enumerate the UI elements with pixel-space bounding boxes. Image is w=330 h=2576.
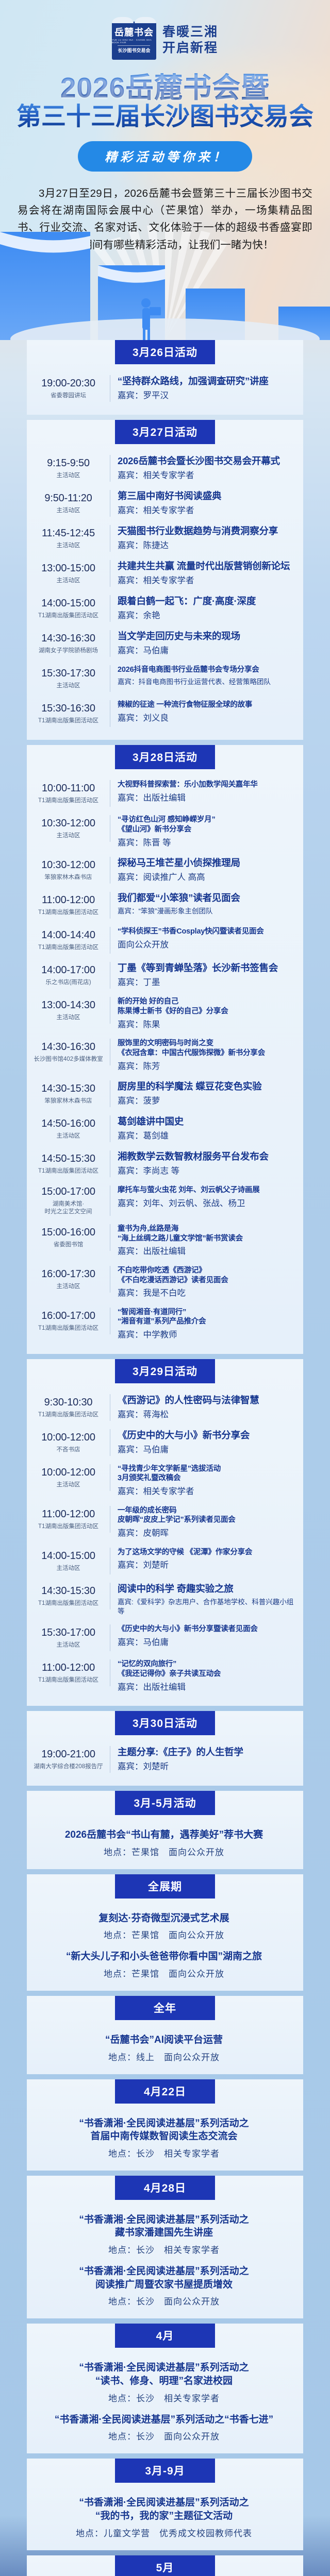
row-time: 11:00-12:00: [42, 1662, 95, 1674]
row-title: 2026抖音电商图书行业岳麓书会专场分享会: [118, 665, 296, 675]
row-guest: 嘉宾：陈晋 等: [118, 837, 296, 849]
row-title: 主题分享:《庄子》的人生哲学: [118, 1746, 296, 1758]
row-content: 丁墨《等到青蝉坠落》长沙新书签售会嘉宾：丁墨: [110, 962, 296, 988]
row-time-venue: 15:00-17:00湖南美术馆·时光之尘艺文空间: [32, 1185, 110, 1216]
row-guest: 嘉宾：出版社编辑: [118, 792, 296, 804]
row-time-venue: 14:00-15:00主活动区: [32, 1548, 110, 1574]
row-content: 《历史中的大与小》新书分享暨读者见面会嘉宾：马伯庸: [110, 1624, 296, 1648]
row-venue: 主活动区: [57, 507, 80, 515]
centered-meta: 地点：芒果馆 面向公众开放: [35, 1928, 293, 1941]
calligraphy-line1: 春暖三湘: [162, 25, 218, 41]
row-time: 11:00-12:00: [42, 1508, 95, 1521]
centered-meta: 地点：长沙 相关专家学者: [35, 2146, 293, 2159]
row-time-venue: 14:30-15:30T1湖南出版集团活动区: [32, 1583, 110, 1609]
day-rows: 复刻达·芬奇微型沉浸式艺术展地点：芒果馆 面向公众开放“新大头儿子和小头爸爸带你…: [27, 1899, 303, 1982]
tagline-pill: 精彩活动等你来！: [78, 141, 252, 172]
row-content: “寻找青少年文学新星”选拔活动3月颁奖礼暨改稿会嘉宾：相关专家学者: [110, 1464, 296, 1498]
row-time-venue: 19:00-20:30省委蓉园讲坛: [32, 375, 110, 402]
centered-title: “书香潇湘·全民阅读进基层”系列活动之“书香七进”: [35, 2413, 293, 2427]
row-venue: 主活动区: [57, 577, 80, 585]
row-title: 当文学走回历史与未来的现场: [118, 630, 296, 642]
schedule-row: 19:00-21:00湖南大学综合楼208报告厅主题分享:《庄子》的人生哲学嘉宾…: [32, 1742, 296, 1777]
row-guest: 嘉宾：马伯庸: [118, 1637, 296, 1648]
hero-section: 岳麓书会 YUE LU SHU HUI · CHANG SHA BOOK FAI…: [0, 0, 330, 340]
day-header: 全展期: [115, 1874, 215, 1899]
row-time-venue: 13:00-15:00主活动区: [32, 560, 110, 587]
row-venue: T1湖南出版集团活动区: [38, 909, 98, 917]
row-content: 摩托车与萤火虫花 刘年、刘云帆父子诗画展嘉宾：刘年、刘云帆、张战、杨卫: [110, 1185, 296, 1209]
day-header: 3月27日活动: [115, 420, 215, 444]
day-header: 5月: [115, 2555, 215, 2576]
row-time-venue: 10:00-12:00主活动区: [32, 1464, 110, 1491]
logo-badge-pinyin: YUE LU SHU HUI · CHANG SHA BOOK FAIR: [112, 39, 156, 44]
centered-title: “书香潇湘·全民阅读进基层”系列活动之阅读推广周暨农家书屋提质增效: [35, 2265, 293, 2291]
row-time: 10:00-11:00: [42, 782, 95, 795]
row-guest: 嘉宾：刘年、刘云帆、张战、杨卫: [118, 1198, 296, 1209]
day-block: 3月-9月“书香潇湘·全民阅读进基层”系列活动之“我的书，我的家”主题征文活动地…: [27, 2459, 303, 2550]
row-title: “智阅湘音·有道同行”“湘音有道”系列产品推介会: [118, 1308, 296, 1327]
row-content: 我们都爱“小笨狼”读者见面会嘉宾：“笨狼”漫画形象主创团队: [110, 892, 296, 916]
row-title: 阅读中的科学 奇趣实验之旅: [118, 1583, 296, 1595]
row-title: 新的开始 好的自己陈果博士新书《好的自己》分享会: [118, 997, 296, 1016]
centered-meta: 地点：线上 面向公众开放: [35, 2050, 293, 2063]
row-time: 14:30-15:30: [41, 1585, 95, 1598]
centered-title: “书香潇湘·全民阅读进基层”系列活动之首届中南传媒数智阅读生态交流会: [35, 2117, 293, 2143]
row-content: 跟着白鹤一起飞：广度·高度·深度嘉宾：余艳: [110, 595, 296, 621]
centered-meta: 地点：儿童文学营 优秀成文校园教师代表: [35, 2526, 293, 2539]
row-venue: T1湖南出版集团活动区: [38, 1167, 98, 1175]
day-block: 3月29日活动9:30-10:30T1湖南出版集团活动区《西游记》的人性密码与法…: [27, 1359, 303, 1706]
row-time: 19:00-21:00: [41, 1748, 95, 1761]
row-time-venue: 19:00-21:00湖南大学综合楼208报告厅: [32, 1746, 110, 1773]
row-content: 童书为舟,丝路是海“海上丝绸之路儿童文学馆”新书赏读会嘉宾：出版社编辑: [110, 1224, 296, 1258]
row-guest: 嘉宾：相关专家学者: [118, 470, 296, 481]
day-rows: “岳麓书会”AI阅读平台运营地点：线上 面向公众开放: [27, 2020, 303, 2066]
row-title: 探秘马王堆芒星小侦探推理局: [118, 857, 296, 869]
books-illustration: [0, 222, 330, 340]
row-guest: 嘉宾：我是不白吃: [118, 1287, 296, 1299]
day-header: 3月-5月活动: [115, 1791, 215, 1815]
row-title: 服饰里的文明密码与时尚之变《衣冠含章：中国古代服饰探微》新书分享会: [118, 1039, 296, 1058]
schedule-row: 14:30-15:30T1湖南出版集团活动区阅读中的科学 奇趣实验之旅嘉宾:《爱…: [32, 1579, 296, 1621]
row-time: 15:30-17:00: [41, 1626, 95, 1639]
row-content: “寻访红色山河 感知峥嵘岁月”《望山河》新书分享会嘉宾：陈晋 等: [110, 815, 296, 849]
row-venue: 省委蓉园讲坛: [51, 392, 86, 400]
row-title: 跟着白鹤一起飞：广度·高度·深度: [118, 595, 296, 607]
row-title: “学科侦探王”书香Cosplay快闪暨读者见面会: [118, 927, 296, 937]
centered-meta: 地点：长沙 面向公众开放: [35, 2429, 293, 2442]
row-title: 《西游记》的人性密码与法律智慧: [118, 1394, 296, 1406]
row-venue: 乐之书店(雨花店): [45, 979, 91, 987]
day-block: 3月-5月活动2026岳麓书会“书山有麓，遇荐美好”荐书大赛地点：芒果馆 面向公…: [27, 1791, 303, 1869]
row-time-venue: 15:30-17:00主活动区: [32, 1624, 110, 1651]
row-title: 厨房里的科学魔法 蝶豆花变色实验: [118, 1080, 296, 1093]
row-time-venue: 10:30-12:00主活动区: [32, 815, 110, 842]
row-time: 14:00-15:00: [41, 597, 95, 610]
row-venue: 湖南女子学院骄杨剧场: [39, 647, 98, 655]
row-content: “坚持群众路线，加强调查研究”讲座嘉宾：罗平汉: [110, 375, 296, 401]
row-content: 《历史中的大与小》新书分享会嘉宾：马伯庸: [110, 1429, 296, 1455]
row-venue: 笨狼家林木森书店: [45, 1097, 92, 1105]
row-guest: 嘉宾：相关专家学者: [118, 575, 296, 586]
schedule-row: 9:15-9:50主活动区2026岳麓书会暨长沙图书交易会开幕式嘉宾：相关专家学…: [32, 451, 296, 486]
row-venue: T1湖南出版集团活动区: [38, 1411, 98, 1419]
day-header: 3月30日活动: [115, 1711, 215, 1735]
row-content: 湘教数学云数智教材服务平台发布会嘉宾：李尚志 等: [110, 1150, 296, 1177]
schedule-row: 16:00-17:30主活动区不白吃带你吃透《西游记》《不白吃漫话西游记》读者见…: [32, 1262, 296, 1304]
schedule-row: 14:30-16:30湖南女子学院骄杨剧场当文学走回历史与未来的现场嘉宾：马伯庸: [32, 626, 296, 662]
row-time: 10:30-12:00: [41, 859, 95, 872]
row-content: 一年级的成长密码皮朝晖“皮皮上学记”系列读者见面会嘉宾：皮朝晖: [110, 1506, 296, 1539]
centered-title: 复刻达·芬奇微型沉浸式艺术展: [35, 1912, 293, 1925]
row-time-venue: 14:30-15:30笨狼家林木森书店: [32, 1080, 110, 1107]
poster-page: 岳麓书会 YUE LU SHU HUI · CHANG SHA BOOK FAI…: [0, 0, 330, 2576]
schedule-list: 3月26日活动19:00-20:30省委蓉园讲坛“坚持群众路线，加强调查研究”讲…: [0, 340, 330, 2576]
row-content: “记忆的双向旅行”《我还记得你》亲子共读互动会嘉宾：出版社编辑: [110, 1659, 296, 1693]
row-venue: 主活动区: [57, 1283, 80, 1291]
row-time-venue: 15:30-17:30主活动区: [32, 665, 110, 692]
row-time-venue: 11:00-12:00T1湖南出版集团活动区: [32, 1659, 110, 1686]
day-rows: “书香潇湘·全民阅读进基层”系列活动之藏书家潘建国先生讲座地点：长沙 相关专家学…: [27, 2200, 303, 2311]
row-guest: 嘉宾：陈果: [118, 1019, 296, 1030]
row-time-venue: 11:00-12:00T1湖南出版集团活动区: [32, 1506, 110, 1533]
row-time: 14:50-16:00: [41, 1117, 95, 1130]
row-time-venue: 9:15-9:50主活动区: [32, 455, 110, 482]
schedule-row: 16:00-17:00T1湖南出版集团活动区“智阅湘音·有道同行”“湘音有道”系…: [32, 1304, 296, 1346]
row-time-venue: 9:50-11:20主活动区: [32, 490, 110, 517]
row-content: “学科侦探王”书香Cosplay快闪暨读者见面会面向公众开放: [110, 927, 296, 951]
centered-meta: 地点：长沙 面向公众开放: [35, 2294, 293, 2307]
logo-badge-line2: 长沙图书交易会: [118, 45, 150, 54]
day-header: 3月26日活动: [115, 340, 215, 364]
row-time: 14:00-14:40: [41, 929, 95, 942]
row-content: 辣椒的征途 一种流行食物征服全球的故事嘉宾：刘义良: [110, 700, 296, 724]
row-guest: 嘉宾：陈芳: [118, 1061, 296, 1072]
day-block: 4月“书香潇湘·全民阅读进基层”系列活动之“读书、修身、明理”名家进校园地点：长…: [27, 2324, 303, 2453]
row-time-venue: 13:00-14:30主活动区: [32, 997, 110, 1024]
day-rows: 2026岳麓书会“书山有麓，遇荐美好”荐书大赛地点：芒果馆 面向公众开放: [27, 1815, 303, 1861]
row-guest: 嘉宾：蒋海松: [118, 1409, 296, 1420]
schedule-centered-row: “岳麓书会”AI阅读平台运营地点：线上 面向公众开放: [32, 2027, 296, 2066]
row-guest: 嘉宾：中学教师: [118, 1329, 296, 1341]
row-time: 16:00-17:00: [41, 1310, 95, 1323]
row-content: 第三届中南好书阅读盛典嘉宾：相关专家学者: [110, 490, 296, 516]
day-block: 全展期复刻达·芬奇微型沉浸式艺术展地点：芒果馆 面向公众开放“新大头儿子和小头爸…: [27, 1874, 303, 1991]
centered-title: 2026岳麓书会“书山有麓，遇荐美好”荐书大赛: [35, 1828, 293, 1842]
schedule-row: 15:00-16:00省委图书馆童书为舟,丝路是海“海上丝绸之路儿童文学馆”新书…: [32, 1221, 296, 1262]
day-rows: 10:00-11:00T1湖南出版集团活动区大视野科普探索营：乐小加数学闯关嘉年…: [27, 769, 303, 1346]
row-time-venue: 9:30-10:30T1湖南出版集团活动区: [32, 1394, 110, 1421]
schedule-row: 11:00-12:00T1湖南出版集团活动区“记忆的双向旅行”《我还记得你》亲子…: [32, 1656, 296, 1698]
day-header: 4月: [115, 2324, 215, 2348]
schedule-row: 10:30-12:00笨狼家林木森书店探秘马王堆芒星小侦探推理局嘉宾：阅读推广人…: [32, 853, 296, 888]
row-venue: 主活动区: [57, 1132, 80, 1140]
schedule-row: 10:00-12:00不吝书店《历史中的大与小》新书分享会嘉宾：马伯庸: [32, 1426, 296, 1461]
schedule-row: 14:00-15:00主活动区为了这场文学的守候 《泥潭》作家分享会嘉宾：刘楚昕: [32, 1544, 296, 1579]
centered-meta: 地点：芒果馆 面向公众开放: [35, 1845, 293, 1858]
day-rows: 19:00-20:30省委蓉园讲坛“坚持群众路线，加强调查研究”讲座嘉宾：罗平汉: [27, 364, 303, 406]
row-venue: 不吝书店: [57, 1446, 80, 1454]
schedule-row: 14:00-15:00T1湖南出版集团活动区跟着白鹤一起飞：广度·高度·深度嘉宾…: [32, 591, 296, 626]
day-block: 3月26日活动19:00-20:30省委蓉园讲坛“坚持群众路线，加强调查研究”讲…: [27, 340, 303, 415]
row-time: 10:30-12:00: [41, 817, 95, 830]
row-time-venue: 14:00-14:40T1湖南出版集团活动区: [32, 927, 110, 954]
row-time: 15:30-16:30: [41, 702, 95, 715]
row-venue: 笨狼家林木森书店: [45, 874, 92, 882]
schedule-row: 15:00-17:00湖南美术馆·时光之尘艺文空间摩托车与萤火虫花 刘年、刘云帆…: [32, 1182, 296, 1221]
centered-title: “新大头儿子和小头爸爸带你看中国”湖南之旅: [35, 1950, 293, 1963]
schedule-row: 9:30-10:30T1湖南出版集团活动区《西游记》的人性密码与法律智慧嘉宾：蒋…: [32, 1391, 296, 1426]
row-time: 13:00-15:00: [41, 562, 95, 575]
row-time: 14:00-17:00: [41, 964, 95, 977]
row-venue: T1湖南出版集团活动区: [38, 944, 98, 952]
row-venue: 主活动区: [57, 472, 80, 480]
schedule-row: 10:30-12:00主活动区“寻访红色山河 感知峥嵘岁月”《望山河》新书分享会…: [32, 811, 296, 853]
schedule-centered-row: “书香潇湘·全民阅读进基层”系列活动之阅读推广周暨农家书屋提质增效地点：长沙 面…: [32, 2259, 296, 2310]
row-time: 9:15-9:50: [47, 457, 90, 470]
row-content: 阅读中的科学 奇趣实验之旅嘉宾:《爱科学》杂志用户、合作基地学校、科普兴趣小组等: [110, 1583, 296, 1616]
row-guest: 嘉宾：刘楚昕: [118, 1560, 296, 1571]
schedule-centered-row: 复刻达·芬奇微型沉浸式艺术展地点：芒果馆 面向公众开放: [32, 1906, 296, 1944]
schedule-row: 13:00-14:30主活动区新的开始 好的自己陈果博士新书《好的自己》分享会嘉…: [32, 993, 296, 1035]
day-header: 4月22日: [115, 2079, 215, 2104]
schedule-centered-row: “书香潇湘·全民阅读进基层”系列活动之“书香七进”地点：长沙 面向公众开放: [32, 2407, 296, 2446]
schedule-row: 13:00-15:00主活动区共建共生共赢 流量时代出版营销创新论坛嘉宾：相关专…: [32, 556, 296, 591]
row-time: 11:45-12:45: [42, 527, 95, 540]
row-guest: 嘉宾：李尚志 等: [118, 1165, 296, 1177]
row-venue: 湖南美术馆·时光之尘艺文空间: [45, 1200, 92, 1216]
logo-badge-line1: 岳麓书会: [114, 28, 154, 38]
schedule-row: 14:00-17:00乐之书店(雨花店)丁墨《等到青蝉坠落》长沙新书签售会嘉宾：…: [32, 958, 296, 993]
row-title: 一年级的成长密码皮朝晖“皮皮上学记”系列读者见面会: [118, 1506, 296, 1526]
day-rows: “书香潇湘·全民阅读进基层”系列活动之“我的书，我的家”主题征文活动地点：儿童文…: [27, 2483, 303, 2541]
row-guest: 嘉宾：刘义良: [118, 713, 296, 724]
row-time-venue: 16:00-17:00T1湖南出版集团活动区: [32, 1308, 110, 1334]
row-content: 主题分享:《庄子》的人生哲学嘉宾：刘楚昕: [110, 1746, 296, 1772]
day-header: 4月28日: [115, 2176, 215, 2200]
schedule-centered-row: “书香潇湘·全民阅读进基层”系列活动之“读书、修身、明理”名家进校园地点：长沙 …: [32, 2355, 296, 2406]
row-content: “智阅湘音·有道同行”“湘音有道”系列产品推介会嘉宾：中学教师: [110, 1308, 296, 1341]
row-time: 15:30-17:30: [41, 667, 95, 680]
row-guest: 嘉宾：余艳: [118, 610, 296, 621]
row-guest: 嘉宾：相关专家学者: [118, 505, 296, 516]
schedule-row: 14:30-15:30笨狼家林木森书店厨房里的科学魔法 蝶豆花变色实验嘉宾：菠萝: [32, 1077, 296, 1112]
row-content: 不白吃带你吃透《西游记》《不白吃漫话西游记》读者见面会嘉宾：我是不白吃: [110, 1266, 296, 1299]
row-guest: 嘉宾：皮朝晖: [118, 1528, 296, 1539]
row-time-venue: 15:30-16:30T1湖南出版集团活动区: [32, 700, 110, 727]
schedule-row: 9:50-11:20主活动区第三届中南好书阅读盛典嘉宾：相关专家学者: [32, 486, 296, 521]
row-content: 2026抖音电商图书行业岳麓书会专场分享会嘉宾：抖音电商图书行业运营代表、经营策…: [110, 665, 296, 687]
schedule-row: 14:00-14:40T1湖南出版集团活动区“学科侦探王”书香Cosplay快闪…: [32, 923, 296, 958]
row-venue: 主活动区: [57, 1481, 80, 1489]
row-title: 大视野科普探索营：乐小加数学闯关嘉年华: [118, 780, 296, 790]
day-rows: 9:15-9:50主活动区2026岳麓书会暨长沙图书交易会开幕式嘉宾：相关专家学…: [27, 444, 303, 732]
row-venue: 湖南大学综合楼208报告厅: [34, 1763, 103, 1771]
row-time-venue: 14:30-16:30湖南女子学院骄杨剧场: [32, 630, 110, 657]
row-guest: 嘉宾：刘楚昕: [118, 1761, 296, 1772]
row-guest: 嘉宾：出版社编辑: [118, 1246, 296, 1257]
row-content: 葛剑雄讲中国史嘉宾：葛剑雄: [110, 1115, 296, 1142]
row-venue: 主活动区: [57, 682, 80, 690]
day-rows: 19:00-21:00湖南大学综合楼208报告厅主题分享:《庄子》的人生哲学嘉宾…: [27, 1735, 303, 1777]
row-time-venue: 11:00-12:00T1湖南出版集团活动区: [32, 892, 110, 919]
row-time: 19:00-20:30: [41, 377, 95, 390]
row-venue: 主活动区: [57, 1565, 80, 1572]
schedule-centered-row: 2026岳麓书会“书山有麓，遇荐美好”荐书大赛地点：芒果馆 面向公众开放: [32, 1822, 296, 1861]
row-title: 我们都爱“小笨狼”读者见面会: [118, 892, 296, 904]
row-title: 葛剑雄讲中国史: [118, 1115, 296, 1128]
row-venue: T1湖南出版集团活动区: [38, 797, 98, 805]
centered-meta: 地点：长沙 相关专家学者: [35, 2243, 293, 2256]
row-guest: 嘉宾：马伯庸: [118, 645, 296, 656]
day-header: 3月-9月: [115, 2459, 215, 2483]
row-content: 为了这场文学的守候 《泥潭》作家分享会嘉宾：刘楚昕: [110, 1548, 296, 1571]
row-title: 丁墨《等到青蝉坠落》长沙新书签售会: [118, 962, 296, 974]
centered-title: “书香潇湘·全民阅读进基层”系列活动之藏书家潘建国先生讲座: [35, 2213, 293, 2240]
row-time: 13:00-14:30: [41, 999, 95, 1012]
row-time: 14:50-15:30: [41, 1153, 95, 1165]
schedule-centered-row: “书香潇湘·全民阅读进基层”系列活动之“我的书，我的家”主题征文活动地点：儿童文…: [32, 2490, 296, 2541]
schedule-row: 14:30-16:30长沙图书馆402多媒体教室服饰里的文明密码与时尚之变《衣冠…: [32, 1035, 296, 1077]
row-time-venue: 14:30-16:30长沙图书馆402多媒体教室: [32, 1039, 110, 1065]
row-venue: 主活动区: [57, 1014, 80, 1022]
schedule-row: 10:00-12:00主活动区“寻找青少年文学新星”选拔活动3月颁奖礼暨改稿会嘉…: [32, 1461, 296, 1502]
row-guest: 嘉宾：阅读推广人 高高: [118, 872, 296, 883]
schedule-row: 11:45-12:45主活动区天猫图书行业数据趋势与消费洞察分享嘉宾：陈捷达: [32, 521, 296, 556]
page-subtitle: 第三十三届长沙图书交易会: [0, 104, 330, 131]
row-time: 14:00-15:00: [41, 1550, 95, 1563]
row-content: 天猫图书行业数据趋势与消费洞察分享嘉宾：陈捷达: [110, 525, 296, 551]
row-title: “记忆的双向旅行”《我还记得你》亲子共读互动会: [118, 1659, 296, 1679]
row-content: 新的开始 好的自己陈果博士新书《好的自己》分享会嘉宾：陈果: [110, 997, 296, 1030]
row-guest: 嘉宾：马伯庸: [118, 1444, 296, 1455]
brand-logo: 岳麓书会 YUE LU SHU HUI · CHANG SHA BOOK FAI…: [0, 0, 330, 60]
row-title: 摩托车与萤火虫花 刘年、刘云帆父子诗画展: [118, 1185, 296, 1195]
schedule-centered-row: “书香潇湘·全民阅读进基层”系列活动之首届中南传媒数智阅读生态交流会地点：长沙 …: [32, 2111, 296, 2162]
logo-badge-icon: 岳麓书会 YUE LU SHU HUI · CHANG SHA BOOK FAI…: [112, 22, 156, 60]
schedule-row: 15:30-17:30主活动区2026抖音电商图书行业岳麓书会专场分享会嘉宾：抖…: [32, 662, 296, 697]
row-guest: 嘉宾：相关专家学者: [118, 1486, 296, 1497]
row-time: 11:00-12:00: [42, 894, 95, 907]
row-time-venue: 14:50-16:00主活动区: [32, 1115, 110, 1142]
row-venue: 省委图书馆: [54, 1241, 84, 1249]
centered-title: “书香潇湘·全民阅读进基层”系列活动之“读书、修身、明理”名家进校园: [35, 2361, 293, 2387]
row-guest: 嘉宾：出版社编辑: [118, 1682, 296, 1693]
schedule-row: 14:50-15:30T1湖南出版集团活动区湘教数学云数智教材服务平台发布会嘉宾…: [32, 1147, 296, 1182]
page-title: 2026岳麓书会暨: [0, 73, 330, 103]
row-title: “坚持群众路线，加强调查研究”讲座: [118, 375, 296, 387]
row-content: 厨房里的科学魔法 蝶豆花变色实验嘉宾：菠萝: [110, 1080, 296, 1107]
row-time-venue: 16:00-17:30主活动区: [32, 1266, 110, 1293]
schedule-row: 11:00-12:00T1湖南出版集团活动区一年级的成长密码皮朝晖“皮皮上学记”…: [32, 1502, 296, 1544]
row-content: 服饰里的文明密码与时尚之变《衣冠含章：中国古代服饰探微》新书分享会嘉宾：陈芳: [110, 1039, 296, 1072]
day-rows: “书香潇湘·全民阅读进基层”系列活动之“读书、修身、明理”名家进校园地点：长沙 …: [27, 2348, 303, 2445]
row-venue: T1湖南出版集团活动区: [38, 612, 98, 620]
row-guest: 嘉宾：丁墨: [118, 977, 296, 988]
row-time-venue: 10:00-12:00不吝书店: [32, 1429, 110, 1456]
row-guest: 嘉宾：“笨狼”漫画形象主创团队: [118, 907, 296, 916]
row-venue: T1湖南出版集团活动区: [38, 1523, 98, 1531]
row-venue: 主活动区: [57, 1641, 80, 1649]
row-venue: 主活动区: [57, 542, 80, 550]
day-block: 3月30日活动19:00-21:00湖南大学综合楼208报告厅主题分享:《庄子》…: [27, 1711, 303, 1786]
row-time-venue: 10:30-12:00笨狼家林木森书店: [32, 857, 110, 884]
row-time-venue: 10:00-11:00T1湖南出版集团活动区: [32, 780, 110, 807]
row-title: “寻访红色山河 感知峥嵘岁月”《望山河》新书分享会: [118, 815, 296, 835]
day-block: 4月28日“书香潇湘·全民阅读进基层”系列活动之藏书家潘建国先生讲座地点：长沙 …: [27, 2176, 303, 2319]
schedule-centered-row: “书香潇湘·全民阅读进基层”系列活动之藏书家潘建国先生讲座地点：长沙 相关专家学…: [32, 2207, 296, 2259]
calligraphy-slogan: 春暖三湘 开启新程: [162, 22, 218, 56]
row-title: 2026岳麓书会暨长沙图书交易会开幕式: [118, 455, 296, 467]
row-time: 14:30-15:30: [41, 1082, 95, 1095]
row-title: 不白吃带你吃透《西游记》《不白吃漫话西游记》读者见面会: [118, 1266, 296, 1285]
day-rows: “书香潇湘·全民阅读进基层”系列活动之首届中南传媒数智阅读生态交流会地点：长沙 …: [27, 2104, 303, 2162]
row-venue: T1湖南出版集团活动区: [38, 1676, 98, 1684]
centered-meta: 地点：长沙 相关专家学者: [35, 2391, 293, 2404]
day-block: 5月“书香潇湘·全民阅读进基层”系列活动之城乡阅读示范点地点：长沙 相关专家学者: [27, 2555, 303, 2576]
row-time: 15:00-16:00: [41, 1226, 95, 1239]
day-header: 3月28日活动: [115, 745, 215, 769]
row-title: 《历史中的大与小》新书分享会: [118, 1429, 296, 1442]
day-header: 3月29日活动: [115, 1359, 215, 1383]
row-time: 15:00-17:00: [41, 1185, 95, 1198]
row-guest: 嘉宾：菠萝: [118, 1095, 296, 1107]
day-block: 全年“岳麓书会”AI阅读平台运营地点：线上 面向公众开放: [27, 1996, 303, 2074]
row-title: 天猫图书行业数据趋势与消费洞察分享: [118, 525, 296, 537]
row-time: 10:00-12:00: [41, 1431, 95, 1444]
day-block: 4月22日“书香潇湘·全民阅读进基层”系列活动之首届中南传媒数智阅读生态交流会地…: [27, 2079, 303, 2171]
row-guest: 嘉宾：葛剑雄: [118, 1130, 296, 1142]
row-title: 辣椒的征途 一种流行食物征服全球的故事: [118, 700, 296, 710]
row-guest: 嘉宾：抖音电商图书行业运营代表、经营策略团队: [118, 677, 296, 687]
schedule-row: 19:00-20:30省委蓉园讲坛“坚持群众路线，加强调查研究”讲座嘉宾：罗平汉: [32, 371, 296, 406]
schedule-row: 11:00-12:00T1湖南出版集团活动区我们都爱“小笨狼”读者见面会嘉宾：“…: [32, 888, 296, 923]
calligraphy-line2: 开启新程: [162, 41, 218, 57]
row-time-venue: 14:00-15:00T1湖南出版集团活动区: [32, 595, 110, 622]
row-guest: 面向公众开放: [118, 939, 296, 951]
row-content: 大视野科普探索营：乐小加数学闯关嘉年华嘉宾：出版社编辑: [110, 780, 296, 804]
schedule-row: 15:30-17:00主活动区《历史中的大与小》新书分享暨读者见面会嘉宾：马伯庸: [32, 1621, 296, 1656]
row-content: 当文学走回历史与未来的现场嘉宾：马伯庸: [110, 630, 296, 656]
row-time: 9:50-11:20: [44, 492, 92, 505]
row-content: 探秘马王堆芒星小侦探推理局嘉宾：阅读推广人 高高: [110, 857, 296, 883]
row-time: 10:00-12:00: [41, 1466, 95, 1479]
row-time: 16:00-17:30: [41, 1268, 95, 1281]
row-title: 湘教数学云数智教材服务平台发布会: [118, 1150, 296, 1163]
day-block: 3月28日活动10:00-11:00T1湖南出版集团活动区大视野科普探索营：乐小…: [27, 745, 303, 1354]
row-venue: 长沙图书馆402多媒体教室: [34, 1056, 103, 1063]
row-time-venue: 15:00-16:00省委图书馆: [32, 1224, 110, 1251]
row-venue: 主活动区: [57, 832, 80, 840]
row-time: 9:30-10:30: [44, 1396, 93, 1409]
schedule-row: 10:00-11:00T1湖南出版集团活动区大视野科普探索营：乐小加数学闯关嘉年…: [32, 776, 296, 811]
row-guest: 嘉宾:《爱科学》杂志用户、合作基地学校、科普兴趣小组等: [118, 1598, 296, 1616]
row-title: 共建共生共赢 流量时代出版营销创新论坛: [118, 560, 296, 572]
day-block: 3月27日活动9:15-9:50主活动区2026岳麓书会暨长沙图书交易会开幕式嘉…: [27, 420, 303, 740]
row-guest: 嘉宾：罗平汉: [118, 390, 296, 401]
schedule-row: 14:50-16:00主活动区葛剑雄讲中国史嘉宾：葛剑雄: [32, 1112, 296, 1147]
centered-title: “岳麓书会”AI阅读平台运营: [35, 2033, 293, 2047]
day-rows: 9:30-10:30T1湖南出版集团活动区《西游记》的人性密码与法律智慧嘉宾：蒋…: [27, 1383, 303, 1698]
row-venue: T1湖南出版集团活动区: [38, 717, 98, 725]
row-title: 《历史中的大与小》新书分享暨读者见面会: [118, 1624, 296, 1634]
row-time: 14:30-16:30: [41, 1041, 95, 1054]
centered-title: “书香潇湘·全民阅读进基层”系列活动之“我的书，我的家”主题征文活动: [35, 2496, 293, 2522]
centered-meta: 地点：芒果馆 面向公众开放: [35, 1967, 293, 1979]
row-content: 共建共生共赢 流量时代出版营销创新论坛嘉宾：相关专家学者: [110, 560, 296, 586]
row-venue: T1湖南出版集团活动区: [38, 1600, 98, 1607]
row-venue: T1湖南出版集团活动区: [38, 1325, 98, 1332]
